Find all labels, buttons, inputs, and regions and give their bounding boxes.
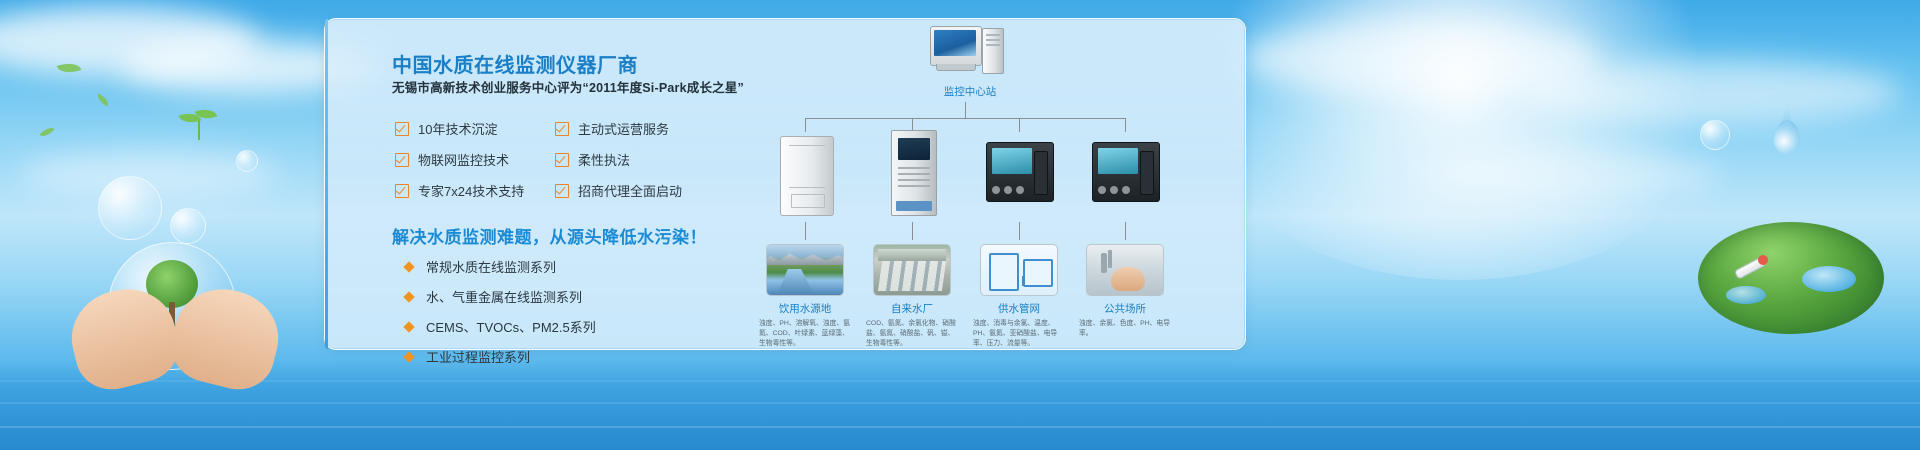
list-item[interactable]: 工业过程监控系列 [405,347,596,366]
monitoring-center-computer-icon [930,26,1010,80]
list-item-label: 常规水质在线监测系列 [426,257,556,276]
device-analyzer-cabinet[interactable] [770,122,840,214]
checklist-item[interactable]: 招商代理全面启动 [555,181,715,200]
checkbox-checked-icon [395,122,409,136]
sun-glow [1180,0,1740,280]
tree-trunk [169,302,175,328]
list-item[interactable]: 水、气重金属在线监测系列 [405,287,596,306]
sea-ripple [0,426,1920,428]
arrow-line [805,222,806,240]
section-subheading: 解决水质监测难题，从源头降低水污染！ [392,223,707,248]
monitoring-topology-diagram: 监控中心站 饮用水源地 浊度、PH、溶解氧、浊度、氨氮、COD、叶绿素、蓝绿藻、… [760,26,1190,346]
device-rack-analyzer[interactable] [877,122,947,214]
cloud [1520,60,1900,124]
arrow-line [1125,222,1126,240]
bubble [1700,120,1730,150]
node-description: 浊度、消毒与余氯、温度、PH、氨氮、亚硝酸盐、电导率、压力、流量等。 [971,319,1067,349]
node-public-places[interactable]: 公共场所 浊度、余氯、色度、PH、电导率。 [1077,244,1173,339]
cloud [20,150,280,198]
list-item-label: 工业过程监控系列 [426,347,530,366]
cloud [1240,20,1600,96]
checklist-row: 10年技术沉淀 主动式运营服务 [395,119,715,138]
photo-water-plant [873,244,951,296]
checklist-row: 物联网监控技术 柔性执法 [395,150,715,169]
monitoring-center-label: 监控中心站 [900,84,1040,99]
node-label: 供水管网 [971,301,1067,316]
checklist-item-label: 专家7x24技术支持 [418,181,524,200]
photo-water-supply-network [980,244,1058,296]
device-row [760,122,1190,222]
checklist-item-label: 招商代理全面启动 [578,181,682,200]
node-description: COD、氨氮、余氯化物、硝酸盐、氨氮、硝酸盐、矾、镒、生物毒性等。 [864,319,960,349]
photo-drinking-water-source [766,244,844,296]
earth-water-body [1726,286,1766,304]
diamond-bullet-icon [403,261,414,272]
arrow-line [1019,222,1020,240]
bubble [236,150,258,172]
node-water-plant[interactable]: 自来水厂 COD、氨氮、余氯化物、硝酸盐、氨氮、硝酸盐、矾、镒、生物毒性等。 [864,244,960,349]
left-hand [62,279,186,397]
right-hand [164,279,288,397]
feature-checklist: 10年技术沉淀 主动式运营服务 物联网监控技术 柔性执法 专家7x24技术支持 [395,119,715,212]
device-controller-2[interactable] [1090,122,1160,214]
earth-water-body [1802,266,1856,292]
leaf-icon [95,93,111,106]
tree-crown [146,260,198,308]
sprout-icon [188,108,228,148]
checkbox-checked-icon [395,184,409,198]
checkbox-checked-icon [555,184,569,198]
bubble [98,176,162,240]
tree-ground [134,324,210,340]
checklist-row: 专家7x24技术支持 招商代理全面启动 [395,181,715,200]
checkbox-checked-icon [555,122,569,136]
list-item[interactable]: 常规水质在线监测系列 [405,257,596,276]
connector-line [965,102,966,118]
cloud [0,6,260,76]
node-label: 饮用水源地 [757,301,853,316]
leaf-icon [39,124,54,140]
checklist-item-label: 柔性执法 [578,150,630,169]
checkbox-checked-icon [395,153,409,167]
glass-globe [108,242,236,370]
checklist-item-label: 10年技术沉淀 [418,119,497,138]
thermometer-icon [1734,254,1770,280]
node-drinking-water-source[interactable]: 饮用水源地 浊度、PH、溶解氧、浊度、氨氮、COD、叶绿素、蓝绿藻、生物毒性等。 [757,244,853,349]
product-series-list: 常规水质在线监测系列 水、气重金属在线监测系列 CEMS、TVOCs、PM2.5… [405,257,596,377]
page-subtitle: 无锡市高新技术创业服务中心评为“2011年度Si-Park成长之星” [392,77,744,96]
green-earth-illustration [1698,222,1884,340]
list-item-label: CEMS、TVOCs、PM2.5系列 [426,317,596,336]
node-description: 浊度、PH、溶解氧、浊度、氨氮、COD、叶绿素、蓝绿藻、生物毒性等。 [757,319,853,349]
checklist-item[interactable]: 10年技术沉淀 [395,119,555,138]
checklist-item[interactable]: 柔性执法 [555,150,715,169]
device-controller-1[interactable] [984,122,1054,214]
hands-holding-tree-illustration [70,236,280,386]
water-droplet-icon [1774,120,1800,154]
checklist-item-label: 主动式运营服务 [578,119,669,138]
diamond-bullet-icon [403,291,414,302]
checklist-item[interactable]: 专家7x24技术支持 [395,181,555,200]
list-item-label: 水、气重金属在线监测系列 [426,287,582,306]
cloud [1420,150,1720,200]
sea-ripple [0,402,1920,404]
sea-background [0,358,1920,450]
node-description: 浊度、余氯、色度、PH、电导率。 [1077,319,1173,339]
photo-public-places [1086,244,1164,296]
earth-ball [1698,222,1884,334]
page-title: 中国水质在线监测仪器厂商 [392,49,638,78]
node-label: 自来水厂 [864,301,960,316]
node-water-supply-network[interactable]: 供水管网 浊度、消毒与余氯、温度、PH、氨氮、亚硝酸盐、电导率、压力、流量等。 [971,244,1067,349]
checklist-item[interactable]: 主动式运营服务 [555,119,715,138]
bubble [170,208,206,244]
list-item[interactable]: CEMS、TVOCs、PM2.5系列 [405,317,596,336]
leaf-icon [57,59,82,78]
connector-line [805,118,1125,119]
diamond-bullet-icon [403,321,414,332]
checklist-item-label: 物联网监控技术 [418,150,509,169]
node-label: 公共场所 [1077,301,1173,316]
arrow-line [912,222,913,240]
sea-ripple [0,380,1920,382]
diamond-bullet-icon [403,351,414,362]
checkbox-checked-icon [555,153,569,167]
checklist-item[interactable]: 物联网监控技术 [395,150,555,169]
